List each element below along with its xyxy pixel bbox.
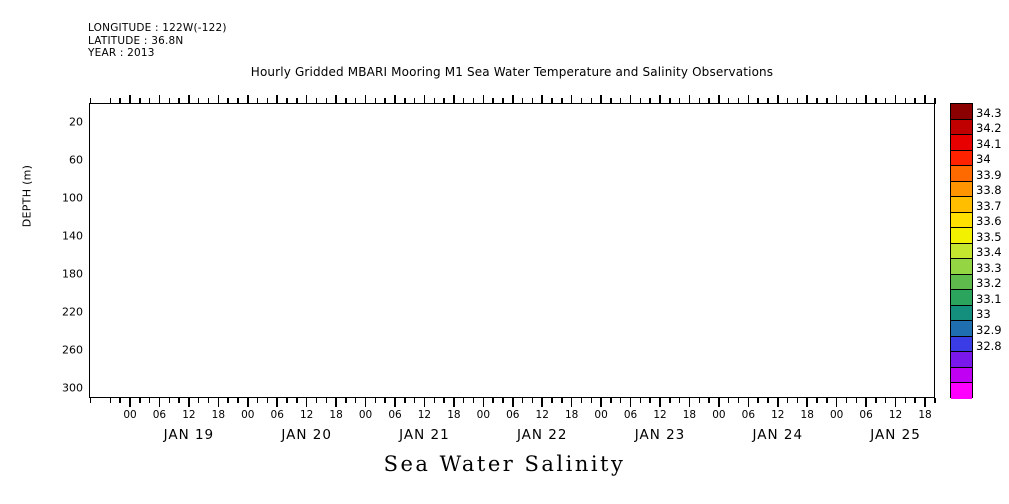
- x-tick-minor: [463, 98, 465, 104]
- x-tick-minor: [561, 398, 563, 403]
- x-tick-minor: [640, 98, 642, 104]
- x-tick-minor: [581, 398, 583, 403]
- x-tick-minor: [316, 98, 318, 104]
- x-tick-minor: [443, 98, 445, 104]
- x-tick-minor: [934, 398, 936, 403]
- x-tick: [188, 95, 190, 104]
- x-tick-minor: [581, 98, 583, 104]
- x-tick: [689, 398, 691, 407]
- x-tick: [129, 398, 131, 407]
- x-tick: [483, 95, 485, 104]
- colorbar-tick-label: 33.3: [976, 261, 1002, 275]
- x-tick-minor: [875, 98, 877, 104]
- x-tick-label-hour: 18: [329, 409, 342, 421]
- x-tick-minor: [345, 398, 347, 403]
- colorbar: [950, 103, 973, 398]
- x-tick-minor: [267, 98, 269, 104]
- colorbar-tick-label: 32.8: [976, 339, 1002, 353]
- colorbar-tick-label: 33.2: [976, 276, 1002, 290]
- colorbar-tick-label: 33.8: [976, 183, 1002, 197]
- x-tick-minor: [905, 98, 907, 104]
- x-tick-minor: [227, 98, 229, 104]
- x-tick-minor: [326, 398, 328, 403]
- x-tick-minor: [473, 98, 475, 104]
- x-tick-minor: [738, 398, 740, 403]
- x-tick-minor: [257, 98, 259, 104]
- x-tick-minor: [816, 98, 818, 104]
- x-tick-label-hour: 12: [771, 409, 784, 421]
- x-tick: [600, 398, 602, 407]
- x-tick-label-hour: 06: [506, 409, 519, 421]
- x-tick: [335, 398, 337, 407]
- x-tick-minor: [375, 98, 377, 104]
- x-tick-minor: [227, 398, 229, 403]
- x-tick: [659, 95, 661, 104]
- y-tick-label: 20: [69, 116, 83, 129]
- x-tick-minor: [610, 398, 612, 403]
- x-tick: [924, 95, 926, 104]
- colorbar-band: [951, 213, 972, 229]
- x-tick: [247, 95, 249, 104]
- x-tick-minor: [316, 398, 318, 403]
- x-tick-label-hour: 18: [801, 409, 814, 421]
- x-tick-minor: [502, 98, 504, 104]
- x-tick: [512, 398, 514, 407]
- x-tick-minor: [384, 98, 386, 104]
- x-tick: [218, 95, 220, 104]
- x-tick-label-hour: 00: [830, 409, 843, 421]
- x-tick: [571, 398, 573, 407]
- colorbar-tick-label: 34: [976, 152, 991, 166]
- x-tick-minor: [856, 98, 858, 104]
- x-tick-minor: [669, 98, 671, 104]
- x-tick-minor: [797, 398, 799, 403]
- x-tick-minor: [355, 98, 357, 104]
- colorbar-band: [951, 383, 972, 399]
- x-tick-minor: [139, 398, 141, 403]
- y-tick-label: 60: [69, 154, 83, 167]
- colorbar-band: [951, 321, 972, 337]
- x-tick-minor: [326, 98, 328, 104]
- x-tick-minor: [787, 398, 789, 403]
- x-tick: [541, 398, 543, 407]
- x-tick-minor: [257, 398, 259, 403]
- x-tick: [188, 398, 190, 407]
- x-tick: [630, 398, 632, 407]
- x-tick-minor: [767, 398, 769, 403]
- colorbar-tick-label: 34.3: [976, 106, 1002, 120]
- colorbar-band: [951, 135, 972, 151]
- x-tick-minor: [404, 398, 406, 403]
- colorbar-band: [951, 151, 972, 167]
- x-tick-minor: [905, 398, 907, 403]
- x-tick-minor: [699, 98, 701, 104]
- x-tick-label-hour: 00: [477, 409, 490, 421]
- x-tick-minor: [620, 98, 622, 104]
- x-tick-minor: [414, 398, 416, 403]
- plot-frame: [89, 103, 935, 398]
- x-tick-label-hour: 18: [212, 409, 225, 421]
- x-tick-label-day: JAN 22: [517, 427, 568, 443]
- x-tick-label-hour: 06: [388, 409, 401, 421]
- x-tick-label-hour: 18: [683, 409, 696, 421]
- y-tick-label: 140: [62, 230, 83, 243]
- x-tick-label-hour: 12: [889, 409, 902, 421]
- chart-title: Hourly Gridded MBARI Mooring M1 Sea Wate…: [89, 65, 935, 79]
- x-tick-minor: [728, 398, 730, 403]
- x-tick-label-day: JAN 25: [870, 427, 921, 443]
- x-tick-minor: [620, 398, 622, 403]
- x-tick: [247, 398, 249, 407]
- colorbar-band: [951, 244, 972, 260]
- x-tick-label-day: JAN 23: [635, 427, 686, 443]
- x-tick: [512, 95, 514, 104]
- x-tick-minor: [169, 98, 171, 104]
- x-tick: [748, 95, 750, 104]
- colorbar-band: [951, 352, 972, 368]
- y-tick-label: 260: [62, 344, 83, 357]
- x-tick-label-day: JAN 24: [752, 427, 803, 443]
- colorbar-tick-label: 32.9: [976, 323, 1002, 337]
- x-tick-label-hour: 06: [153, 409, 166, 421]
- x-tick: [453, 398, 455, 407]
- x-tick-minor: [914, 398, 916, 403]
- x-tick: [394, 95, 396, 104]
- x-tick-minor: [757, 98, 759, 104]
- x-tick-minor: [757, 398, 759, 403]
- colorbar-band: [951, 275, 972, 291]
- x-tick-minor: [856, 398, 858, 403]
- x-tick: [365, 398, 367, 407]
- x-tick-minor: [178, 398, 180, 403]
- x-tick: [806, 95, 808, 104]
- x-tick: [865, 95, 867, 104]
- x-tick: [335, 95, 337, 104]
- x-tick-minor: [699, 398, 701, 403]
- x-tick: [424, 398, 426, 407]
- x-tick-minor: [237, 398, 239, 403]
- x-tick-minor: [119, 398, 121, 403]
- x-tick-minor: [532, 398, 534, 403]
- x-tick-minor: [708, 398, 710, 403]
- x-tick-label-day: JAN 19: [164, 427, 215, 443]
- x-tick-minor: [522, 398, 524, 403]
- x-tick: [600, 95, 602, 104]
- x-tick-minor: [649, 398, 651, 403]
- x-tick-label-hour: 00: [241, 409, 254, 421]
- x-tick-minor: [492, 98, 494, 104]
- x-tick-label-hour: 12: [300, 409, 313, 421]
- x-tick-minor: [591, 398, 593, 403]
- x-tick: [836, 398, 838, 407]
- x-tick: [276, 398, 278, 407]
- colorbar-band: [951, 337, 972, 353]
- x-tick-label-hour: 12: [536, 409, 549, 421]
- x-tick-minor: [414, 98, 416, 104]
- x-tick: [659, 398, 661, 407]
- x-tick-minor: [885, 398, 887, 403]
- x-tick-minor: [738, 98, 740, 104]
- colorbar-band: [951, 104, 972, 120]
- x-tick-minor: [345, 98, 347, 104]
- colorbar-band: [951, 259, 972, 275]
- x-tick: [218, 398, 220, 407]
- x-tick-minor: [561, 98, 563, 104]
- x-tick-label-hour: 00: [123, 409, 136, 421]
- x-tick-label-hour: 18: [565, 409, 578, 421]
- x-tick-label-hour: 12: [418, 409, 431, 421]
- x-tick-minor: [178, 98, 180, 104]
- x-tick-label-hour: 12: [182, 409, 195, 421]
- colorbar-tick-label: 33.7: [976, 199, 1002, 213]
- x-tick-minor: [90, 398, 92, 403]
- x-tick-label-hour: 06: [859, 409, 872, 421]
- x-tick: [424, 95, 426, 104]
- x-tick-minor: [110, 398, 112, 403]
- x-tick-label-hour: 06: [742, 409, 755, 421]
- x-tick-label-hour: 18: [918, 409, 931, 421]
- x-tick-minor: [169, 398, 171, 403]
- x-tick-minor: [355, 398, 357, 403]
- x-tick-minor: [797, 98, 799, 104]
- x-tick: [836, 95, 838, 104]
- x-tick-label-hour: 00: [712, 409, 725, 421]
- x-tick-minor: [669, 398, 671, 403]
- x-tick: [924, 398, 926, 407]
- x-tick-minor: [551, 98, 553, 104]
- colorbar-band: [951, 290, 972, 306]
- colorbar-band: [951, 182, 972, 198]
- colorbar-band: [951, 120, 972, 136]
- x-tick: [748, 398, 750, 407]
- x-tick-minor: [434, 398, 436, 403]
- x-tick: [394, 398, 396, 407]
- x-tick-minor: [728, 98, 730, 104]
- x-tick-minor: [110, 98, 112, 104]
- x-tick-minor: [846, 98, 848, 104]
- x-tick-minor: [767, 98, 769, 104]
- colorbar-tick-label: 33.5: [976, 230, 1002, 244]
- x-tick: [630, 95, 632, 104]
- x-tick-minor: [532, 98, 534, 104]
- x-tick-minor: [826, 98, 828, 104]
- x-tick: [483, 398, 485, 407]
- x-tick: [365, 95, 367, 104]
- x-tick-minor: [934, 98, 936, 104]
- x-tick-minor: [591, 98, 593, 104]
- x-tick-minor: [640, 398, 642, 403]
- x-tick-label-hour: 12: [653, 409, 666, 421]
- x-tick-minor: [875, 398, 877, 403]
- colorbar-tick-label: 33.9: [976, 168, 1002, 182]
- year-text: YEAR : 2013: [88, 47, 227, 60]
- x-tick-minor: [237, 98, 239, 104]
- x-tick-minor: [208, 398, 210, 403]
- x-tick-minor: [404, 98, 406, 104]
- x-tick-minor: [149, 398, 151, 403]
- x-tick: [129, 95, 131, 104]
- x-tick-minor: [787, 98, 789, 104]
- colorbar-tick-label: 33: [976, 307, 991, 321]
- station-metadata: LONGITUDE : 122W(-122) LATITUDE : 36.8N …: [88, 22, 227, 60]
- x-tick: [777, 95, 779, 104]
- x-tick-minor: [198, 98, 200, 104]
- x-tick-minor: [119, 98, 121, 104]
- x-tick-minor: [522, 98, 524, 104]
- x-tick-minor: [384, 398, 386, 403]
- colorbar-band: [951, 368, 972, 384]
- x-tick-minor: [649, 98, 651, 104]
- x-tick: [895, 398, 897, 407]
- x-tick: [276, 95, 278, 104]
- colorbar-tick-label: 34.2: [976, 121, 1002, 135]
- x-tick-minor: [90, 98, 92, 104]
- latitude-text: LATITUDE : 36.8N: [88, 35, 227, 48]
- x-tick-minor: [679, 398, 681, 403]
- y-tick-label: 220: [62, 306, 83, 319]
- x-tick: [306, 95, 308, 104]
- longitude-text: LONGITUDE : 122W(-122): [88, 22, 227, 35]
- x-tick-minor: [296, 98, 298, 104]
- x-tick-label-hour: 00: [594, 409, 607, 421]
- figure-caption: Sea Water Salinity: [0, 452, 1009, 476]
- x-tick: [571, 95, 573, 104]
- x-tick-minor: [885, 98, 887, 104]
- x-tick-label-hour: 06: [271, 409, 284, 421]
- x-tick: [159, 398, 161, 407]
- y-tick-label: 300: [62, 382, 83, 395]
- x-tick-label-hour: 00: [359, 409, 372, 421]
- colorbar-tick-label: 33.1: [976, 292, 1002, 306]
- x-tick-label-hour: 06: [624, 409, 637, 421]
- x-tick-minor: [443, 398, 445, 403]
- x-tick: [453, 95, 455, 104]
- y-axis-labels: 2060100140180220260300: [0, 0, 83, 504]
- x-tick: [718, 95, 720, 104]
- x-tick: [895, 95, 897, 104]
- x-tick: [718, 398, 720, 407]
- x-tick-label-hour: 18: [447, 409, 460, 421]
- x-tick-minor: [375, 398, 377, 403]
- x-tick-minor: [286, 98, 288, 104]
- x-tick-minor: [139, 98, 141, 104]
- y-tick-label: 180: [62, 268, 83, 281]
- x-tick: [806, 398, 808, 407]
- x-tick-minor: [267, 398, 269, 403]
- colorbar-tick-label: 33.6: [976, 214, 1002, 228]
- x-tick-minor: [434, 98, 436, 104]
- colorbar-band: [951, 197, 972, 213]
- x-tick-label-day: JAN 20: [281, 427, 332, 443]
- x-tick-minor: [208, 98, 210, 104]
- colorbar-band: [951, 306, 972, 322]
- x-tick-minor: [198, 398, 200, 403]
- colorbar-tick-label: 33.4: [976, 245, 1002, 259]
- x-tick-minor: [679, 98, 681, 104]
- x-tick-minor: [708, 98, 710, 104]
- x-tick: [689, 95, 691, 104]
- x-tick-minor: [826, 398, 828, 403]
- colorbar-tick-label: 34.1: [976, 137, 1002, 151]
- x-tick: [541, 95, 543, 104]
- x-tick-minor: [286, 398, 288, 403]
- x-tick-minor: [149, 98, 151, 104]
- x-tick-minor: [473, 398, 475, 403]
- x-tick-minor: [296, 398, 298, 403]
- x-tick-minor: [463, 398, 465, 403]
- x-tick: [306, 398, 308, 407]
- x-tick-minor: [816, 398, 818, 403]
- x-tick-minor: [914, 98, 916, 104]
- y-tick-label: 100: [62, 192, 83, 205]
- x-tick: [159, 95, 161, 104]
- colorbar-band: [951, 166, 972, 182]
- x-tick: [865, 398, 867, 407]
- x-tick-minor: [846, 398, 848, 403]
- x-tick: [777, 398, 779, 407]
- x-tick-minor: [492, 398, 494, 403]
- x-tick-minor: [551, 398, 553, 403]
- x-tick-minor: [502, 398, 504, 403]
- x-tick-minor: [610, 98, 612, 104]
- x-tick-label-day: JAN 21: [399, 427, 450, 443]
- colorbar-band: [951, 228, 972, 244]
